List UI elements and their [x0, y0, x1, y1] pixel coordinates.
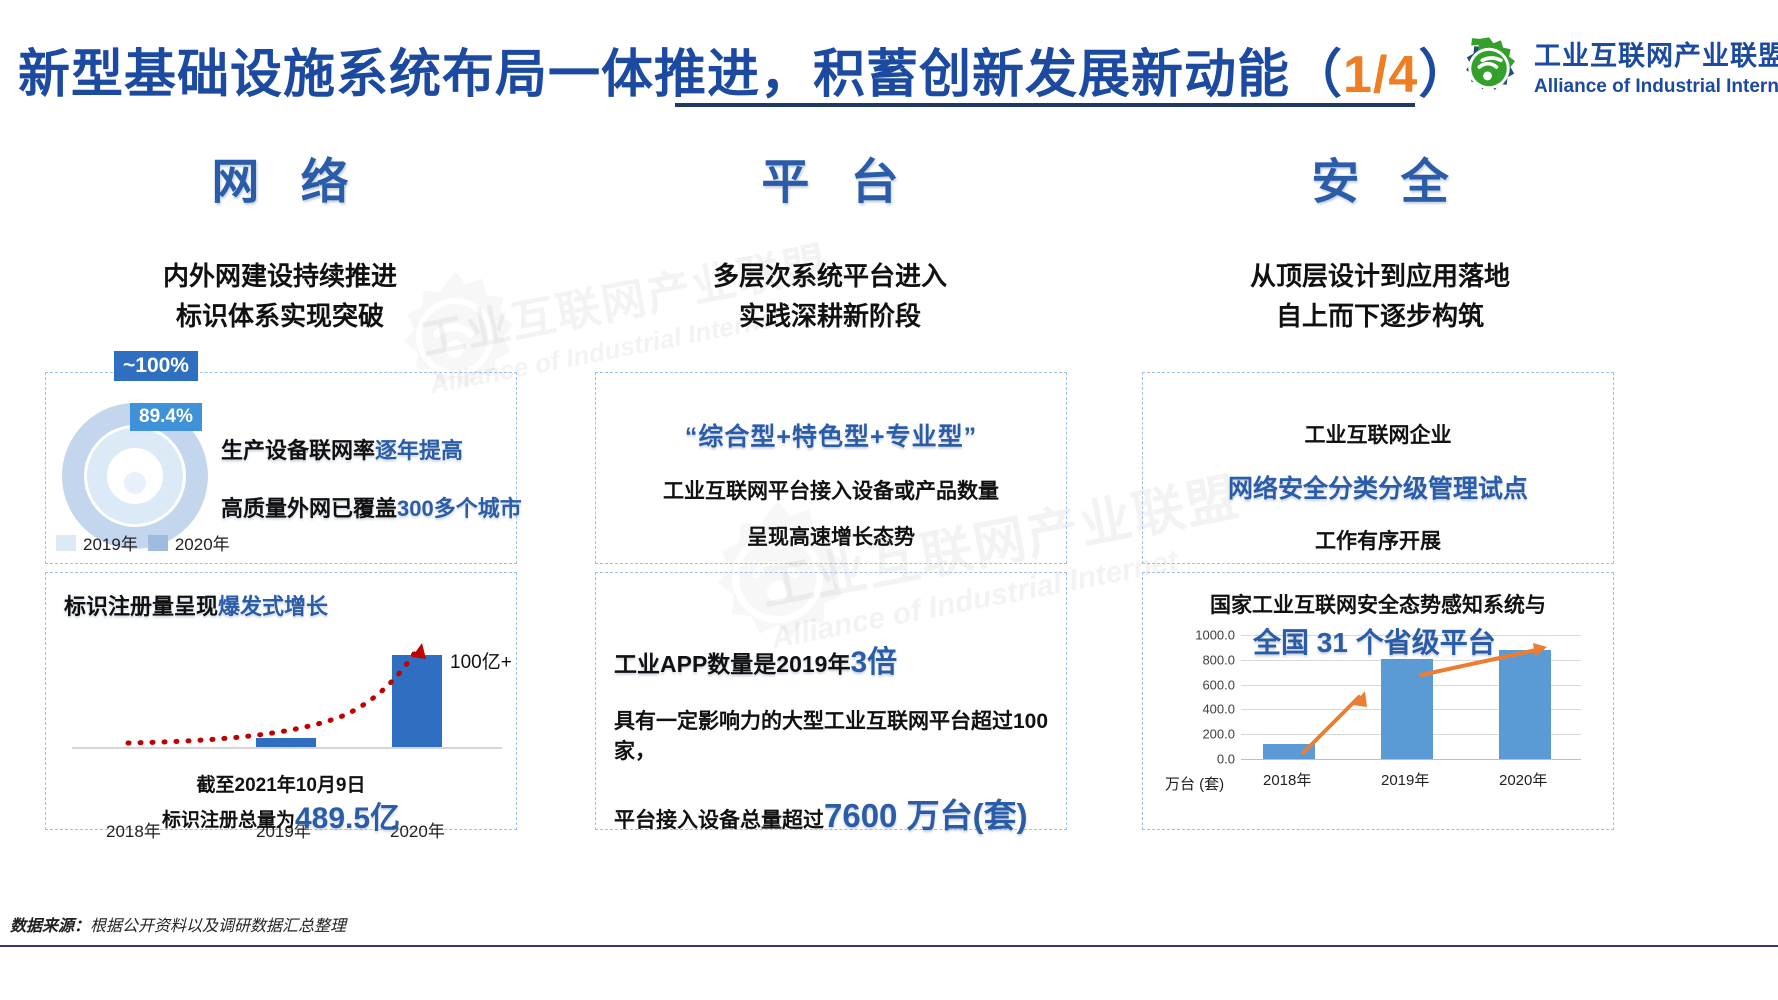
- network-line-1-highlight: 逐年提高: [375, 438, 463, 463]
- identifier-foot-line2-plain: 标识注册总量为: [162, 810, 295, 831]
- security-panel-a-text: 工业互联网企业 网络安全分类分级管理试点 工作有序开展: [1143, 419, 1613, 555]
- identifier-foot-line1: 截至2021年10月9日: [46, 773, 516, 799]
- gridline-0: [1241, 759, 1581, 760]
- chart1-trend-line: [60, 635, 504, 753]
- platform-sub-line1: 多层次系统平台进入: [570, 256, 1090, 296]
- slide-header: 新型基础设施系统布局一体推进，积蓄创新发展新动能（1/4） 工业互联网产业联盟 …: [0, 0, 1778, 118]
- identifier-title-highlight: 爆发式增长: [218, 594, 328, 619]
- legend-label-2020: 2020年: [175, 530, 230, 555]
- column-platform: 平 台 多层次系统平台进入 实践深耕新阶段: [570, 130, 1090, 337]
- brand-logo: 工业互联网产业联盟 Alliance of Industrial Interne…: [1452, 28, 1768, 108]
- identifier-foot-line2: 标识注册总量为489.5亿: [46, 799, 516, 840]
- identifier-footnote: 截至2021年10月9日 标识注册总量为489.5亿: [46, 773, 516, 839]
- ytick-1000: 1000.0: [1195, 628, 1235, 643]
- network-line-2: 高质量外网已覆盖300多个城市: [221, 491, 511, 523]
- brand-name-cn: 工业互联网产业联盟: [1534, 34, 1778, 73]
- title-page-fraction: 1/4: [1343, 46, 1418, 104]
- network-line-2-plain: 高质量外网已覆盖: [221, 496, 397, 521]
- platform-app-line-plain: 工业APP数量是2019年: [614, 651, 850, 677]
- identifier-chart-title: 标识注册量呈现爆发式增长: [64, 589, 328, 621]
- column-network: 网 络 内外网建设持续推进 标识体系实现突破: [20, 130, 540, 337]
- ytick-400: 400.0: [1202, 702, 1235, 717]
- column-heading-security: 安 全: [1120, 142, 1640, 212]
- badge-outer-value: ~100%: [114, 351, 198, 381]
- identifier-title-plain: 标识注册量呈现: [64, 594, 218, 619]
- security-chart-banner: 全国 31 个省级平台: [1253, 621, 1496, 661]
- title-underline: [675, 103, 1415, 107]
- ytick-0: 0.0: [1217, 752, 1235, 767]
- chart3-xtick-2018: 2018年: [1263, 769, 1311, 790]
- page-title: 新型基础设施系统布局一体推进，积蓄创新发展新动能（1/4）: [18, 32, 1471, 107]
- panel-platform-metrics: 工业APP数量是2019年3倍 具有一定影响力的大型工业互联网平台超过100 家…: [595, 572, 1067, 830]
- network-line-1-plain: 生产设备联网率: [221, 438, 375, 463]
- chart3-unit-label: 万台 (套): [1165, 773, 1224, 794]
- security-line-2: 网络安全分类分级管理试点: [1143, 469, 1613, 505]
- network-panel-a-text: 生产设备联网率逐年提高 高质量外网已覆盖300多个城市: [221, 433, 511, 523]
- security-sub-line2: 自上而下逐步构筑: [1120, 296, 1640, 336]
- legend-item-2020: 2020年: [148, 530, 230, 555]
- column-security: 安 全 从顶层设计到应用落地 自上而下逐步构筑: [1120, 130, 1640, 337]
- source-label: 数据来源：: [10, 918, 90, 935]
- panel-platform-types: “综合型+特色型+专业型” 工业互联网平台接入设备或产品数量 呈现高速增长态势: [595, 372, 1067, 564]
- identifier-foot-total: 489.5亿: [295, 802, 400, 835]
- network-sub-line2: 标识体系实现突破: [20, 296, 540, 336]
- column-heading-platform: 平 台: [570, 142, 1090, 212]
- platform-app-line: 工业APP数量是2019年3倍: [614, 637, 1052, 681]
- legend-swatch-2020-icon: [148, 535, 168, 551]
- platform-quote: “综合型+特色型+专业型”: [596, 417, 1066, 453]
- platform-sub-line2: 实践深耕新阶段: [570, 296, 1090, 336]
- security-line-3: 工作有序开展: [1143, 525, 1613, 555]
- column-subtitle-platform: 多层次系统平台进入 实践深耕新阶段: [570, 256, 1090, 337]
- network-line-2-highlight: 300多个城市: [397, 496, 522, 521]
- security-line-1: 工业互联网企业: [1143, 419, 1613, 449]
- platform-line-3: 呈现高速增长态势: [596, 521, 1066, 551]
- platform-device-total-line: 平台接入设备总量超过7600 万台(套): [614, 789, 1052, 837]
- ytick-800: 800.0: [1202, 652, 1235, 667]
- platform-device-total-value: 7600 万台(套): [824, 797, 1028, 834]
- security-sub-line1: 从顶层设计到应用落地: [1120, 256, 1640, 296]
- network-sub-line1: 内外网建设持续推进: [20, 256, 540, 296]
- legend-label-2019: 2019年: [83, 530, 138, 555]
- footer-divider: [0, 945, 1778, 947]
- ytick-600: 600.0: [1202, 677, 1235, 692]
- legend-item-2019: 2019年: [56, 530, 138, 555]
- platform-large-count-line: 具有一定影响力的大型工业互联网平台超过100 家，: [614, 705, 1052, 765]
- title-paren-open: （: [1290, 46, 1343, 104]
- platform-line-2: 工业互联网平台接入设备或产品数量: [596, 475, 1066, 505]
- chart3-xtick-2020: 2020年: [1499, 769, 1547, 790]
- chart3-xtick-2019: 2019年: [1381, 769, 1429, 790]
- platform-device-total-plain: 平台接入设备总量超过: [614, 809, 824, 832]
- donut-legend: 2019年 2020年: [56, 530, 230, 555]
- source-note: 数据来源：根据公开资料以及调研数据汇总整理: [10, 912, 346, 936]
- platform-panel-a-text: “综合型+特色型+专业型” 工业互联网平台接入设备或产品数量 呈现高速增长态势: [596, 417, 1066, 551]
- network-line-1: 生产设备联网率逐年提高: [221, 433, 511, 465]
- badge-inner-value: 89.4%: [130, 403, 202, 431]
- column-subtitle-network: 内外网建设持续推进 标识体系实现突破: [20, 256, 540, 337]
- column-subtitle-security: 从顶层设计到应用落地 自上而下逐步构筑: [1120, 256, 1640, 337]
- page-title-main: 新型基础设施系统布局一体推进，积蓄创新发展新动能: [18, 46, 1290, 104]
- column-heading-network: 网 络: [20, 142, 540, 212]
- platform-panel-b-text: 工业APP数量是2019年3倍 具有一定影响力的大型工业互联网平台超过100 家…: [614, 637, 1052, 837]
- security-chart-title: 国家工业互联网安全态势感知系统与: [1143, 589, 1613, 619]
- panel-security-awareness-chart: 国家工业互联网安全态势感知系统与 全国 31 个省级平台 1000.0 800.…: [1142, 572, 1614, 830]
- source-text: 根据公开资料以及调研数据汇总整理: [90, 918, 346, 935]
- gear-wifi-logo-icon: [1452, 30, 1526, 104]
- brand-logo-text: 工业互联网产业联盟 Alliance of Industrial Interne…: [1534, 34, 1778, 98]
- slide-root: 工业互联网产业联盟 Alliance of Industrial Interne…: [0, 0, 1778, 1000]
- legend-swatch-2019-icon: [56, 535, 76, 551]
- brand-name-en: Alliance of Industrial Internet: [1534, 76, 1778, 98]
- panel-identifier-registration: 标识注册量呈现爆发式增长 100亿+ 2018年 2019年 2020年 截至2…: [45, 572, 517, 830]
- ytick-200: 200.0: [1202, 727, 1235, 742]
- identifier-bar-chart: 100亿+ 2018年 2019年 2020年: [60, 635, 504, 753]
- panel-security-pilot: 工业互联网企业 网络安全分类分级管理试点 工作有序开展: [1142, 372, 1614, 564]
- panel-network-connectivity: ~100% 89.4% 生产设备联网率逐年提高 高质量外网已覆盖300多个城市 …: [45, 372, 517, 564]
- platform-app-multiple: 3倍: [850, 646, 897, 679]
- security-bar-chart: 全国 31 个省级平台 1000.0 800.0 600.0 400.0 200…: [1157, 625, 1601, 795]
